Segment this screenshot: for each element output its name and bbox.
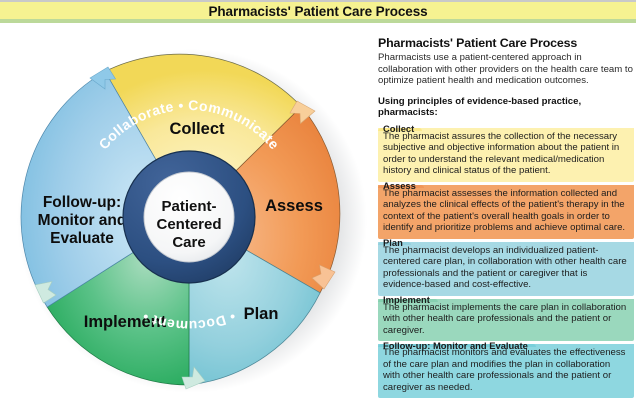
step-title-followup: Follow-up: Monitor and Evaluate — [378, 344, 536, 347]
step-text-followup: The pharmacist monitors and evaluates th… — [378, 347, 634, 394]
page-title: Pharmacists' Patient Care Process — [0, 4, 636, 19]
step-title-plan: Plan — [378, 242, 411, 245]
step-text-plan: The pharmacist develops an individualize… — [378, 245, 634, 292]
page-root: Pharmacists' Patient Care Process — [0, 0, 636, 417]
step-list: Collect The pharmacist assures the colle… — [378, 128, 634, 399]
intro-body: Pharmacists use a patient-centered appro… — [378, 52, 634, 87]
wheel-svg: Collect Assess Plan Implement Follow-up: — [4, 27, 374, 417]
process-description-panel: Pharmacists' Patient Care Process Pharma… — [378, 36, 634, 401]
segment-label-followup-line2: Monitor and — [38, 212, 127, 229]
intro-lead: Using principles of evidence-based pract… — [378, 96, 634, 119]
segment-label-followup-line1: Follow-up: — [43, 194, 121, 211]
step-title-collect: Collect — [378, 128, 422, 131]
step-title-assess: Assess — [378, 185, 424, 188]
step-card-implement[interactable]: Implement The pharmacist implements the … — [378, 299, 634, 342]
hub-label-line3: Care — [172, 234, 205, 251]
step-card-plan[interactable]: Plan The pharmacist develops an individu… — [378, 242, 634, 296]
segment-label-collect: Collect — [169, 120, 225, 138]
intro-title: Pharmacists' Patient Care Process — [378, 36, 634, 50]
step-card-followup[interactable]: Follow-up: Monitor and Evaluate The phar… — [378, 344, 634, 398]
step-text-collect: The pharmacist assures the collection of… — [378, 131, 634, 178]
step-card-collect[interactable]: Collect The pharmacist assures the colle… — [378, 128, 634, 182]
title-bar: Pharmacists' Patient Care Process — [0, 0, 636, 23]
segment-label-assess: Assess — [265, 197, 323, 215]
step-card-assess[interactable]: Assess The pharmacist assesses the infor… — [378, 185, 634, 239]
segment-label-plan: Plan — [244, 305, 279, 323]
step-title-implement: Implement — [378, 299, 438, 302]
step-text-implement: The pharmacist implements the care plan … — [378, 302, 634, 338]
patient-care-process-wheel: Collect Assess Plan Implement Follow-up: — [4, 27, 374, 417]
hub-label-line1: Patient- — [161, 198, 216, 215]
hub-label-line2: Centered — [156, 216, 221, 233]
segment-label-followup-line3: Evaluate — [50, 230, 114, 247]
step-text-assess: The pharmacist assesses the information … — [378, 188, 634, 235]
